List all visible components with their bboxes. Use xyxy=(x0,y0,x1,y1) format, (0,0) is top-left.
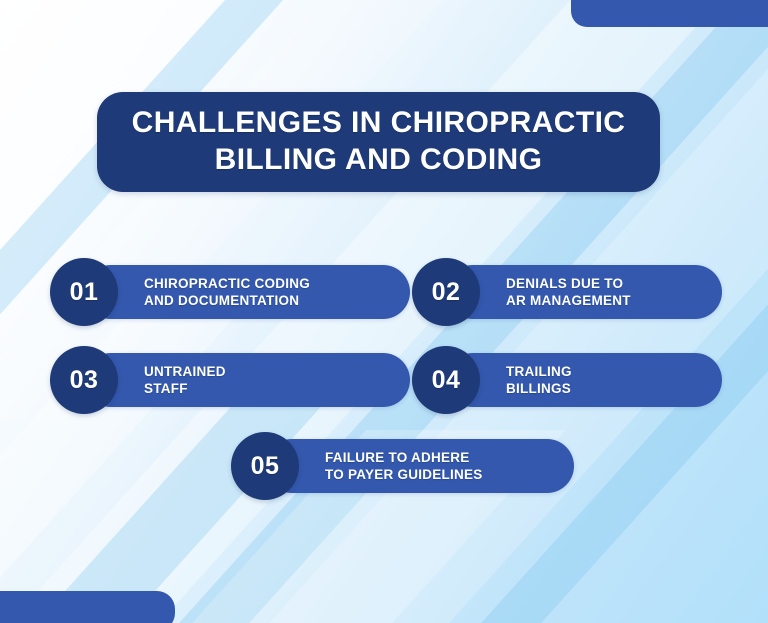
page-title: CHALLENGES IN CHIROPRACTIC BILLING AND C… xyxy=(132,105,626,178)
challenge-label-01: CHIROPRACTIC CODING AND DOCUMENTATION xyxy=(144,275,310,310)
challenge-number-05: 05 xyxy=(251,452,280,481)
challenge-number-badge-01: 01 xyxy=(50,258,118,326)
challenge-label-04: TRAILING BILLINGS xyxy=(506,363,572,398)
background-band xyxy=(0,380,345,623)
challenge-number-badge-05: 05 xyxy=(231,432,299,500)
corner-bar-top-right xyxy=(571,0,768,27)
challenge-number-badge-03: 03 xyxy=(50,346,118,414)
title-banner: CHALLENGES IN CHIROPRACTIC BILLING AND C… xyxy=(97,92,660,192)
challenge-number-badge-04: 04 xyxy=(412,346,480,414)
challenge-pill-05: FAILURE TO ADHERE TO PAYER GUIDELINES xyxy=(265,439,574,493)
challenge-number-badge-02: 02 xyxy=(412,258,480,326)
challenge-pill-04: TRAILING BILLINGS xyxy=(446,353,722,407)
background-band xyxy=(0,300,250,623)
challenge-label-03: UNTRAINED STAFF xyxy=(144,363,226,398)
challenge-pill-01: CHIROPRACTIC CODING AND DOCUMENTATION xyxy=(84,265,410,319)
challenge-number-04: 04 xyxy=(432,366,461,395)
challenge-number-03: 03 xyxy=(70,366,99,395)
challenge-label-05: FAILURE TO ADHERE TO PAYER GUIDELINES xyxy=(325,449,483,484)
challenge-number-02: 02 xyxy=(432,278,461,307)
infographic-canvas: CHALLENGES IN CHIROPRACTIC BILLING AND C… xyxy=(0,0,768,623)
challenge-pill-02: DENIALS DUE TO AR MANAGEMENT xyxy=(446,265,722,319)
challenge-label-02: DENIALS DUE TO AR MANAGEMENT xyxy=(506,275,631,310)
challenge-number-01: 01 xyxy=(70,278,99,307)
challenge-pill-03: UNTRAINED STAFF xyxy=(84,353,410,407)
corner-bar-bottom-left xyxy=(0,591,175,623)
